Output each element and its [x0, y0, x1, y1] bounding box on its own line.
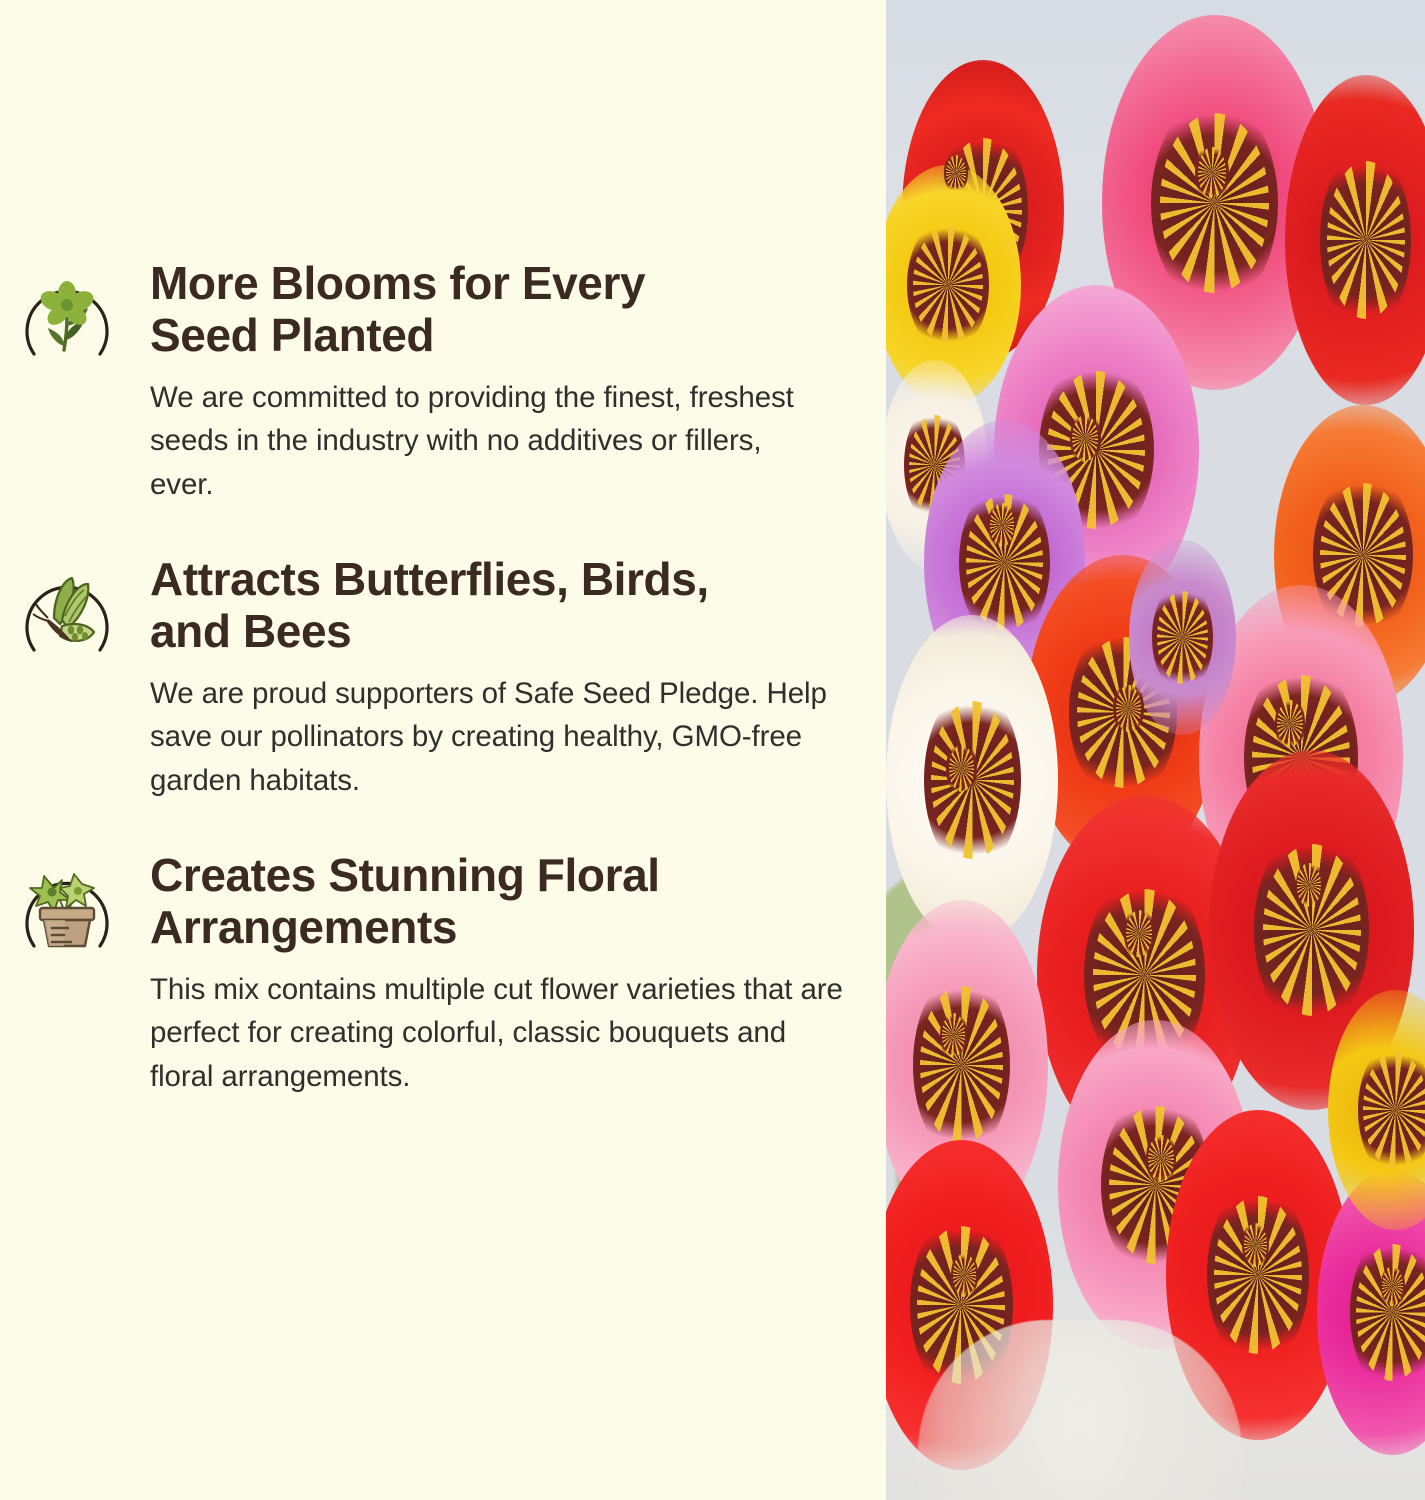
- product-feature-panel: More Blooms for Every Seed Planted We ar…: [0, 0, 1425, 1500]
- feature-item-attracts-pollinators: Attracts Butterflies, Birds, and Bees We…: [0, 554, 886, 802]
- feature-description: We are proud supporters of Safe Seed Ple…: [150, 672, 846, 802]
- feature-text-block: More Blooms for Every Seed Planted We ar…: [150, 258, 886, 506]
- feature-description: This mix contains multiple cut flower va…: [150, 968, 846, 1098]
- feature-item-floral-arrangements: Creates Stunning Floral Arrangements Thi…: [0, 850, 886, 1098]
- potted-plant-icon: [12, 856, 122, 966]
- feature-text-block: Creates Stunning Floral Arrangements Thi…: [150, 850, 886, 1098]
- zinnia-bouquet-photo: [886, 0, 1425, 1500]
- feature-text-block: Attracts Butterflies, Birds, and Bees We…: [150, 554, 886, 802]
- feature-list: More Blooms for Every Seed Planted We ar…: [0, 258, 886, 1098]
- feature-item-more-blooms: More Blooms for Every Seed Planted We ar…: [0, 258, 886, 506]
- photo-canvas: [886, 0, 1425, 1500]
- feature-list-panel: More Blooms for Every Seed Planted We ar…: [0, 0, 886, 1500]
- feature-description: We are committed to providing the finest…: [150, 376, 810, 506]
- flower-sprout-icon: [12, 264, 122, 374]
- feature-title: Creates Stunning Floral Arrangements: [150, 850, 846, 954]
- feature-title: Attracts Butterflies, Birds, and Bees: [150, 554, 770, 658]
- feature-title: More Blooms for Every Seed Planted: [150, 258, 750, 362]
- butterfly-icon: [12, 560, 122, 670]
